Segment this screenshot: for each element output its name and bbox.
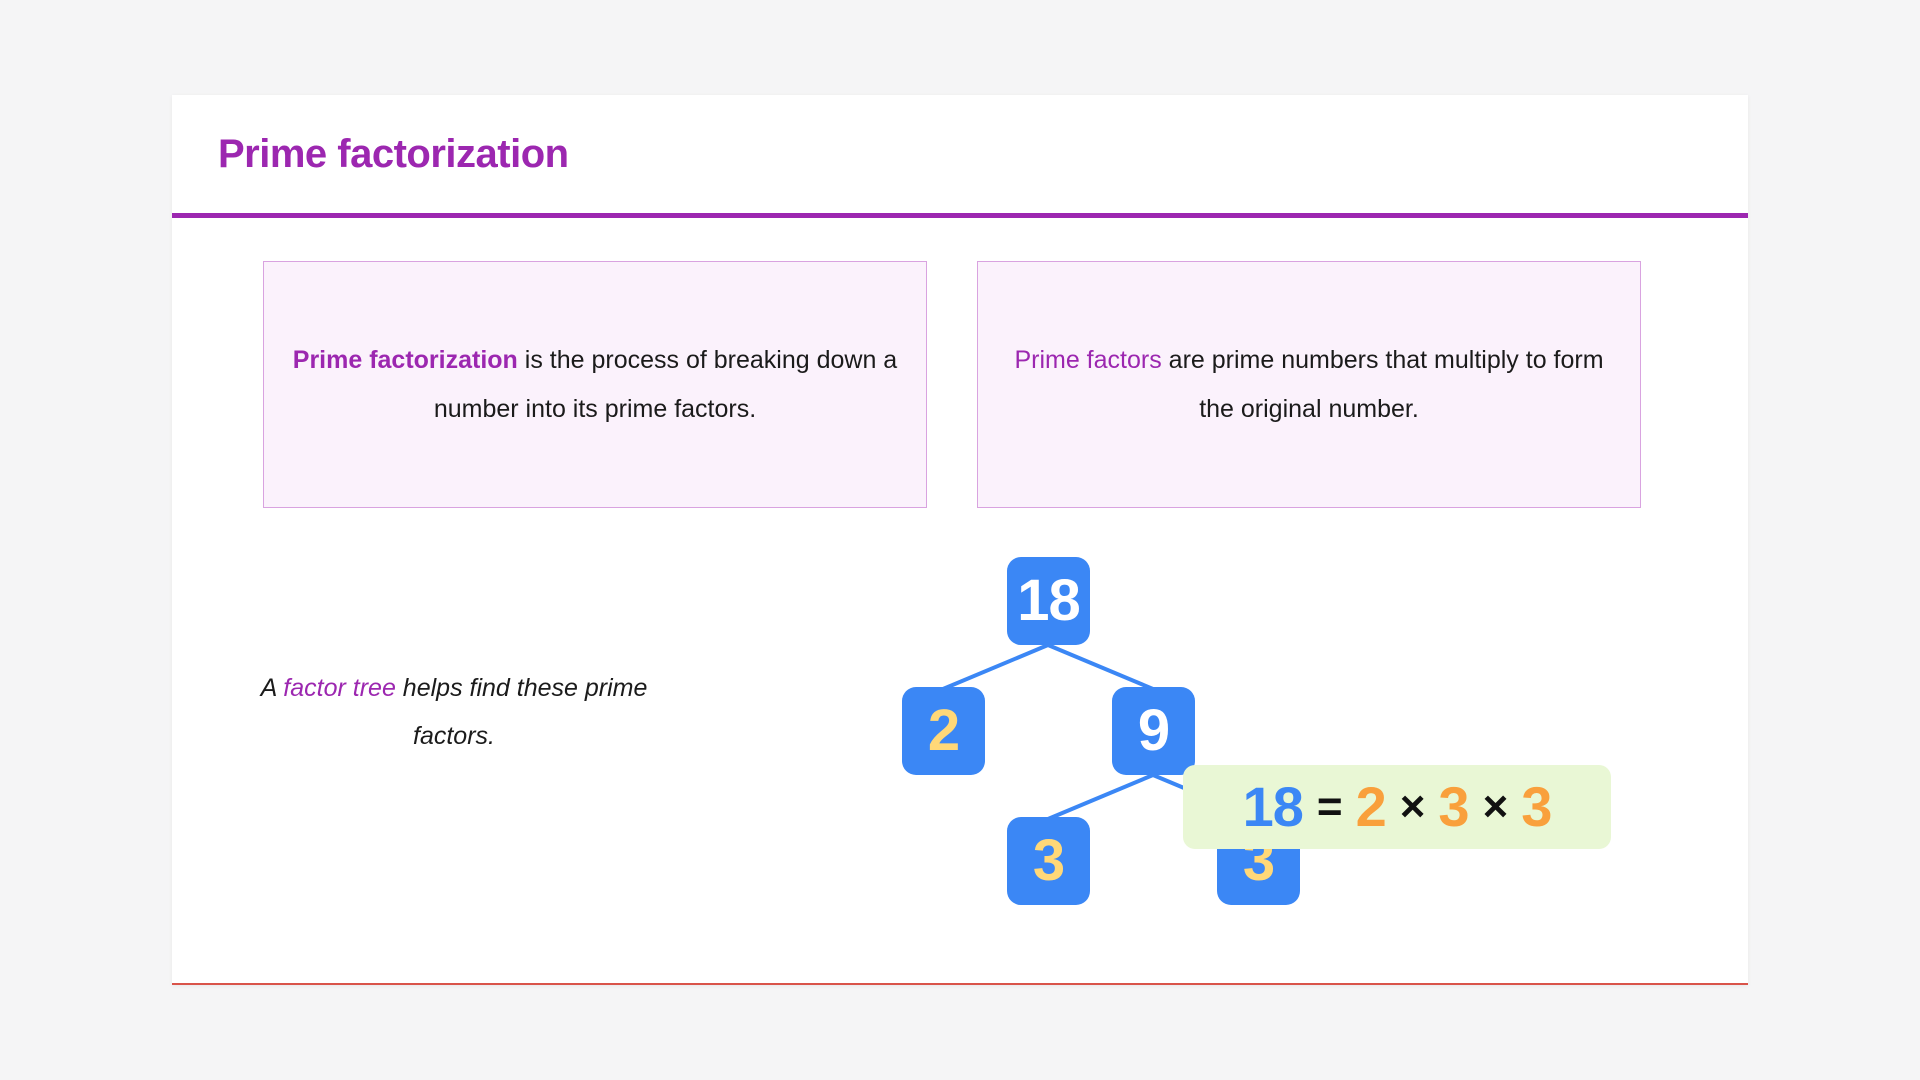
tree-node-value: 18	[1017, 572, 1080, 630]
page-title: Prime factorization	[218, 132, 569, 177]
equals-icon: =	[1317, 785, 1342, 829]
definition-text: Prime factors are prime numbers that mul…	[978, 336, 1640, 433]
definition-box-prime-factorization: Prime factorization is the process of br…	[263, 261, 927, 508]
slide-root: Prime factorization Prime factorization …	[0, 0, 1920, 1080]
definition-box-prime-factors: Prime factors are prime numbers that mul…	[977, 261, 1641, 508]
tree-node-9[interactable]: 9	[1112, 687, 1195, 775]
slide-card: Prime factorization Prime factorization …	[172, 95, 1748, 985]
equation-token-number: 18	[1243, 779, 1303, 835]
tree-node-3-left[interactable]: 3	[1007, 817, 1090, 905]
definition-keyword: Prime factorization	[293, 346, 518, 374]
tree-node-2[interactable]: 2	[902, 687, 985, 775]
factor-tree-caption: A factor tree helps find these prime fac…	[244, 665, 664, 760]
multiply-icon: ×	[1400, 785, 1425, 829]
definition-keyword: Prime factors	[1014, 346, 1161, 374]
definition-body: are prime numbers that multiply to form …	[1162, 346, 1604, 423]
edge-18-to-9	[1048, 645, 1153, 689]
equation-token-factor: 3	[1438, 779, 1468, 835]
caption-after: helps find these prime factors.	[396, 674, 648, 750]
tree-node-18[interactable]: 18	[1007, 557, 1090, 645]
edge-9-to-3a	[1048, 775, 1153, 819]
edge-18-to-2	[943, 645, 1048, 689]
card-bottom-accent	[172, 983, 1748, 985]
tree-node-value: 3	[1033, 832, 1064, 890]
equation-result-box: 18 = 2 × 3 × 3	[1183, 765, 1611, 849]
definition-text: Prime factorization is the process of br…	[264, 336, 926, 433]
equation-token-factor: 3	[1521, 779, 1551, 835]
caption-keyword: factor tree	[283, 674, 396, 702]
title-divider	[172, 213, 1748, 218]
equation-token-factor: 2	[1356, 779, 1386, 835]
tree-node-value: 9	[1138, 702, 1169, 760]
multiply-icon: ×	[1483, 785, 1508, 829]
factor-tree-diagram: 18 2 9 3 3	[652, 515, 1212, 935]
caption-before: A	[261, 674, 284, 702]
tree-node-value: 2	[928, 702, 959, 760]
